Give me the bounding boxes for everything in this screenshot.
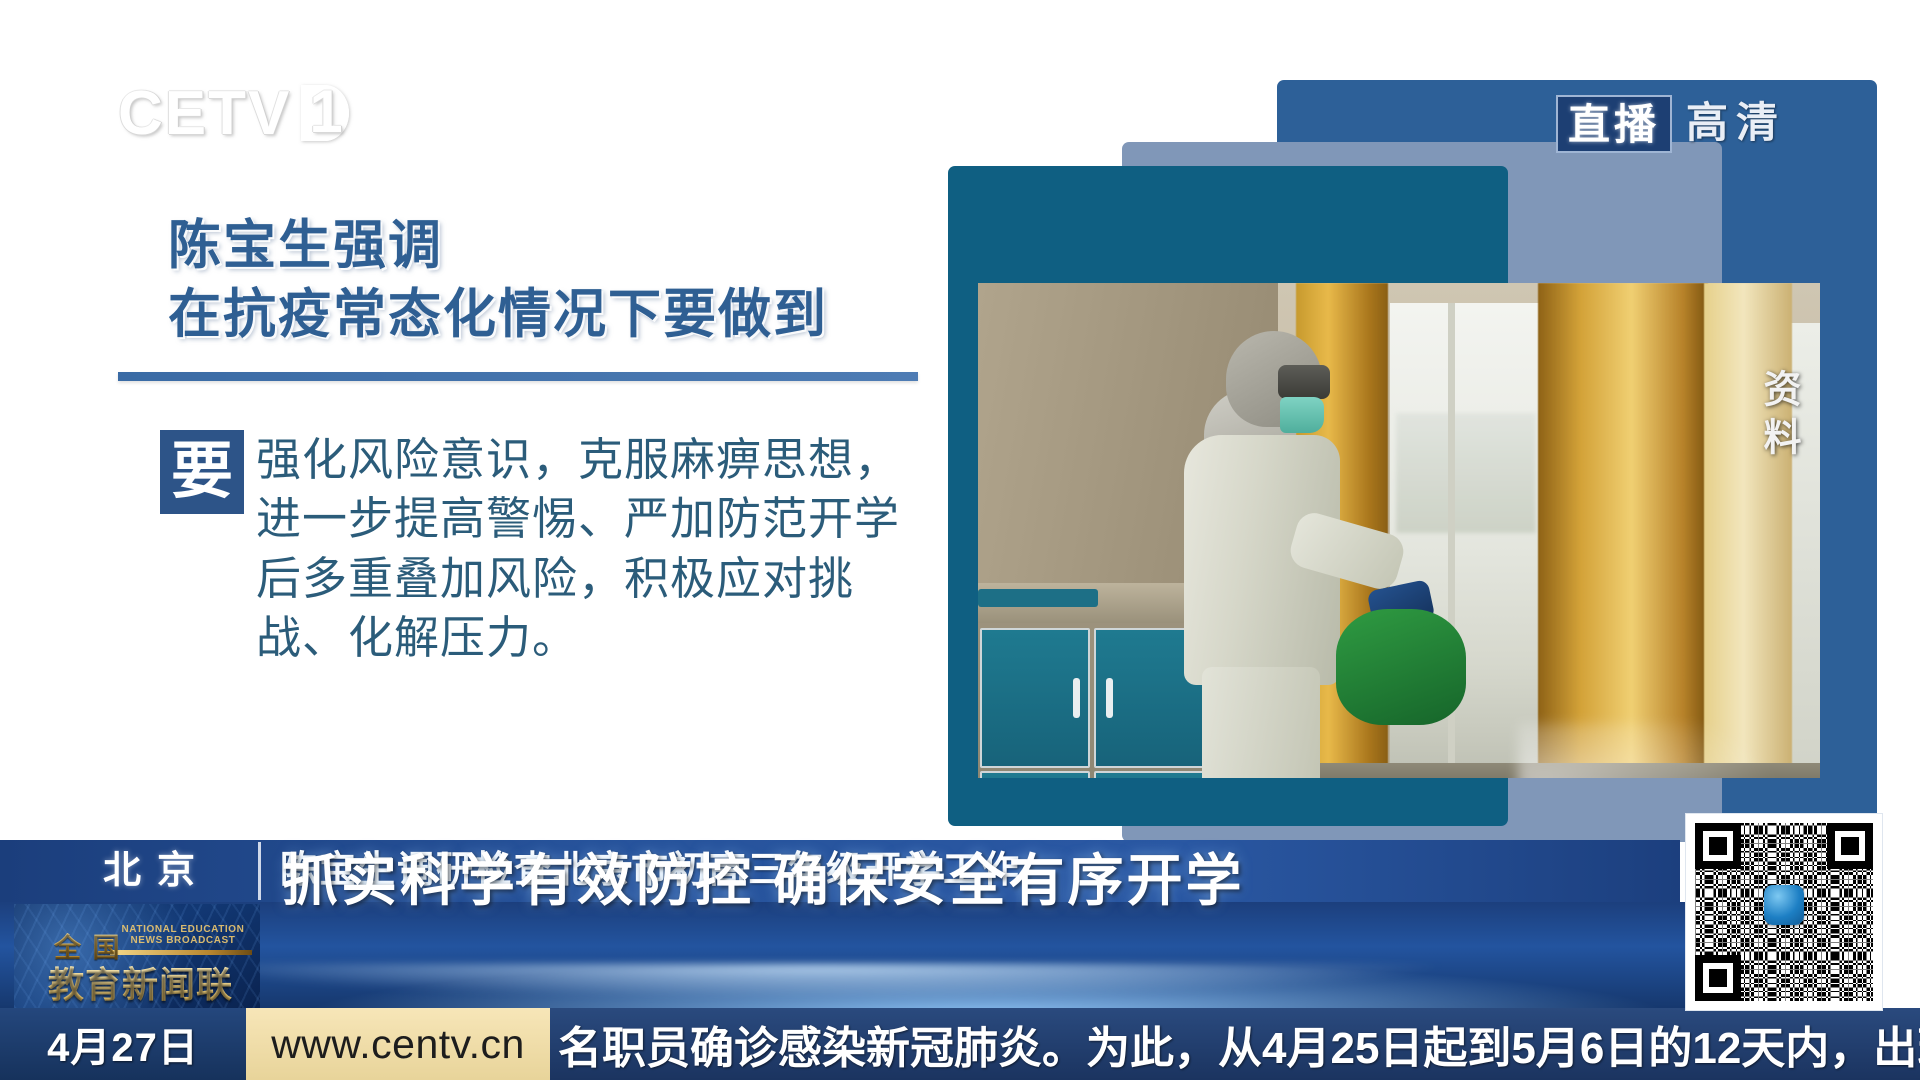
curtain-right (1704, 283, 1792, 778)
qr-code-cells (1695, 823, 1873, 1001)
locker-door (980, 771, 1090, 778)
program-logo-english-line-2: NEWS BROADCAST (110, 935, 256, 946)
channel-number: 1 (309, 83, 344, 141)
program-logo-gold-bar (110, 950, 252, 955)
program-logo-english: NATIONAL EDUCATION NEWS BROADCAST (110, 924, 256, 946)
headline-line-1: 陈宝生强调 (168, 212, 968, 281)
locker-door (980, 628, 1090, 768)
location-divider (258, 842, 261, 900)
body-block: 要 强化风险意识，克服麻痹思想，进一步提高警惕、严加防范开学后多重叠加风险，积极… (160, 430, 920, 668)
video-feed: 资料 (978, 283, 1820, 778)
qr-center-logo-icon (1764, 885, 1804, 925)
lower-third: 北京 陈宝生调研检查北京市初高三年级开学工作 抓实科学有效防控 确保安全有序开学… (0, 828, 1920, 1080)
locker-blue-strip (978, 589, 1098, 607)
disinfectant-sprayer (1336, 609, 1466, 725)
headline-line-2: 在抗疫常态化情况下要做到 (168, 281, 968, 350)
news-ticker-text: 名职员确诊感染新冠肺炎。为此，从4月25日起到5月6日的12天内，出现疫情 (550, 1012, 1920, 1076)
worker-in-ppe (1174, 331, 1374, 778)
hd-label: 高清 (1672, 95, 1786, 153)
ppe-goggles (1278, 365, 1330, 399)
disinfectant-mist (1518, 723, 1778, 778)
news-ticker: 名职员确诊感染新冠肺炎。为此，从4月25日起到5月6日的12天内，出现疫情 (550, 1008, 1920, 1080)
qr-finder-top-right (1827, 823, 1873, 869)
date-label: 4月27日 (0, 1008, 246, 1080)
channel-logo-text: CETV (118, 78, 291, 149)
title-divider (118, 372, 918, 381)
program-logo: NATIONAL EDUCATION NEWS BROADCAST 全 国 教育… (14, 904, 260, 1008)
archive-footage-label: 资料 (1751, 369, 1806, 465)
news-main-title: 抓实科学有效防控 确保安全有序开学 (282, 842, 1245, 920)
location-label: 北京 (62, 846, 252, 896)
channel-logo: CETV 1 (118, 78, 349, 149)
window-outside-view (1396, 413, 1536, 533)
qr-finder-bottom-left (1695, 955, 1741, 1001)
program-logo-cn-line-2: 教育新闻联播 (48, 956, 260, 1008)
broadcast-screen: CETV 1 直播 高清 (0, 0, 1920, 1080)
curtain-center (1538, 283, 1708, 778)
qr-code (1686, 814, 1882, 1010)
ppe-suit-legs (1202, 667, 1320, 778)
qr-finder-top-left (1695, 823, 1741, 869)
page-title: 陈宝生强调 在抗疫常态化情况下要做到 (168, 212, 968, 350)
program-logo-english-line-1: NATIONAL EDUCATION (110, 924, 256, 935)
channel-number-badge: 1 (303, 87, 349, 141)
ppe-face-mask (1280, 397, 1324, 433)
requirement-marker: 要 (160, 430, 244, 514)
live-label: 直播 (1556, 95, 1672, 153)
live-hd-badge: 直播 高清 (1556, 95, 1786, 153)
requirement-text: 强化风险意识，克服麻痹思想，进一步提高警惕、严加防范开学后多重叠加风险，积极应对… (256, 430, 906, 668)
website-url: www.centv.cn (246, 1008, 550, 1080)
